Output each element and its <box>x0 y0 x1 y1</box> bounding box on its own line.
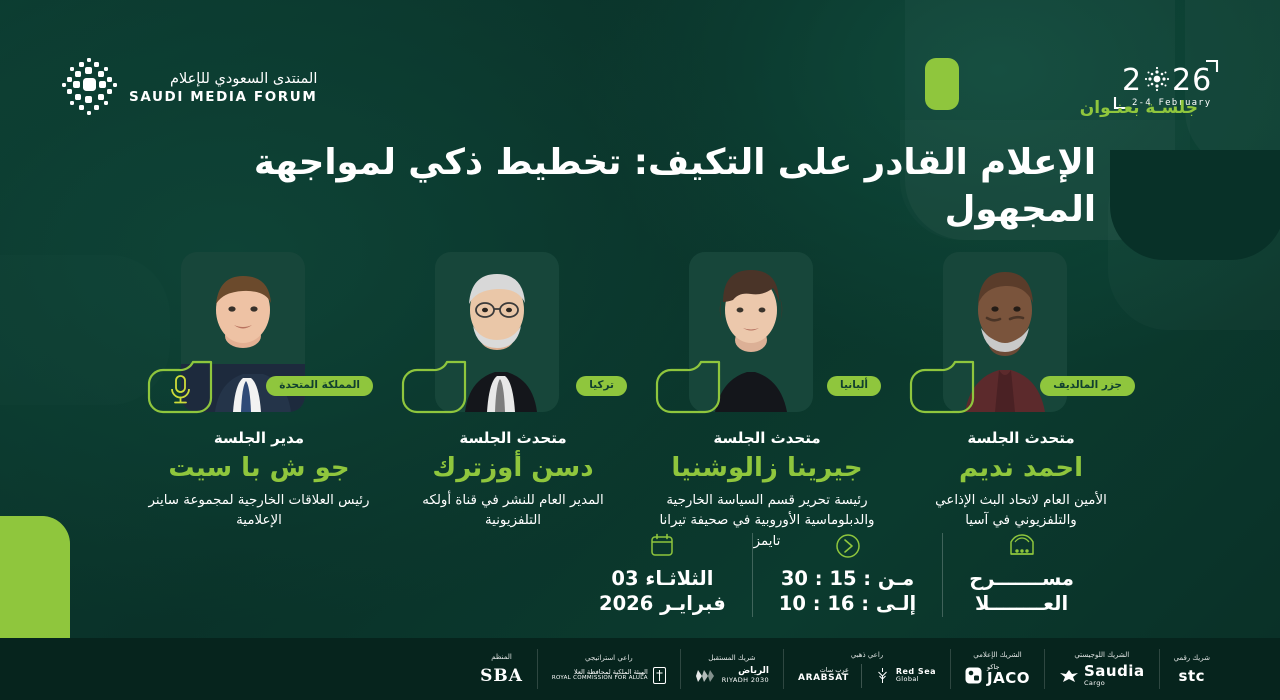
speaker-role: مدير الجلسة <box>214 431 304 446</box>
microphone-bracket-icon <box>147 360 215 424</box>
red-sea-coral-icon <box>874 667 891 684</box>
speaker-photo-wrap: جزر المالديف <box>899 252 1143 418</box>
bg-dark-shape <box>1110 150 1280 260</box>
country-badge: المملكة المتحدة <box>266 376 373 396</box>
saudi-media-forum-logo: المنتدى السعودي للإعلام SAUDI MEDIA FORU… <box>60 58 317 116</box>
dot-cluster-icon <box>60 58 118 116</box>
speaker-card[interactable]: جزر المالديف متحدث الجلسة احمد نديم الأم… <box>899 252 1143 552</box>
jaco-mark-icon <box>965 667 982 684</box>
meta-line-1: الثلاثـاء 03 <box>611 566 713 591</box>
meta-time: مـن : 15 : 30 إلـى : 16 : 10 <box>753 533 943 617</box>
meta-date: الثلاثـاء 03 فبرايـر 2026 <box>573 533 753 617</box>
sponsor-label: شريك رقمي <box>1174 654 1210 662</box>
sponsor-label: الشريك الإعلامي <box>973 651 1021 659</box>
speaker-name: جو ش با سيت <box>168 454 349 483</box>
forum-wordmark: المنتدى السعودي للإعلام SAUDI MEDIA FORU… <box>129 69 317 105</box>
speaker-card[interactable]: المملكة المتحدة مدير الجلسة جو ش با سيت … <box>137 252 381 552</box>
sponsor-logos: الرياض RIYADH 2030 <box>695 667 769 683</box>
sponsor-label: الشريك اللوجيستي <box>1074 651 1129 659</box>
sponsor-logo-jaco: جاكو JACO <box>965 664 1030 687</box>
theater-stage-icon <box>1009 533 1035 559</box>
speaker-card[interactable]: ألبانيا متحدث الجلسة جيرينا زالوشنيا رئي… <box>645 252 889 552</box>
meta-line-2: العــــــــلا <box>975 591 1068 616</box>
sponsor-group: الشريك اللوجيستي Saudia Cargo <box>1045 649 1160 689</box>
svg-text:26: 26 <box>1172 63 1212 98</box>
expo-mark-icon <box>695 668 717 684</box>
speaker-name: احمد نديم <box>959 454 1083 483</box>
sponsor-logos: Saudia Cargo <box>1059 664 1145 687</box>
sponsor-label: شريك المستقبل <box>708 654 755 662</box>
speaker-photo-wrap: المملكة المتحدة <box>137 252 381 418</box>
sponsor-group: شريك رقمي stc <box>1160 649 1224 689</box>
speaker-role: متحدث الجلسة <box>459 431 566 446</box>
country-badge: ألبانيا <box>827 376 881 396</box>
speaker-title: رئيس العلاقات الخارجية لمجموعة ساينر الإ… <box>145 491 373 532</box>
sponsor-logos: stc <box>1179 667 1206 685</box>
sponsor-group: شريك المستقبل الرياض RIYADH 2030 <box>681 649 784 689</box>
sponsor-group: راعي ذهبي Red Sea Global <box>784 649 951 689</box>
speaker-photo-wrap: تركيا <box>391 252 635 418</box>
lime-accent-tab <box>925 58 959 110</box>
session-poster: المنتدى السعودي للإعلام SAUDI MEDIA FORU… <box>0 0 1280 700</box>
meta-line-2: إلـى : 16 : 10 <box>779 591 916 616</box>
sponsor-group: راعي استراتيجي الهيئة الملكية لمحافظة ال… <box>538 649 681 689</box>
sponsor-logo-royal-commission-alula: الهيئة الملكية لمحافظة العلا ROYAL COMMI… <box>552 667 666 684</box>
sponsor-logo-arabsat: عرب سات ARABSAT <box>798 667 849 683</box>
meta-line-1: مـن : 15 : 30 <box>781 566 914 591</box>
session-title: الإعلام القادر على التكيف: تخطيط ذكي لمو… <box>176 140 1096 234</box>
sponsor-label: راعي ذهبي <box>851 651 883 659</box>
quote-bracket-icon <box>655 360 723 424</box>
speaker-title: الأمين العام لاتحاد البث الإذاعي والتلفز… <box>907 491 1135 532</box>
clock-arrow-icon <box>835 533 861 559</box>
event-meta: مســـــــرح العــــــــلا مـن : 15 : 30 … <box>573 533 1100 617</box>
country-badge: جزر المالديف <box>1040 376 1135 396</box>
sponsor-logos: جاكو JACO <box>965 664 1030 687</box>
speaker-card[interactable]: تركيا متحدث الجلسة دسن أوزترك المدير الع… <box>391 252 635 552</box>
quote-bracket-icon <box>401 360 469 424</box>
forum-name-en: SAUDI MEDIA FORUM <box>129 89 317 105</box>
sponsor-group: الشريك الإعلامي جاكو JACO <box>951 649 1045 689</box>
speaker-role: متحدث الجلسة <box>713 431 820 446</box>
meta-line-1: مســـــــرح <box>969 566 1074 591</box>
divider <box>861 664 862 688</box>
quote-bracket-icon <box>909 360 977 424</box>
speaker-title: المدير العام للنشر في قناة أولكه التلفزي… <box>399 491 627 532</box>
speaker-name: جيرينا زالوشنيا <box>671 454 862 483</box>
sponsor-group: المنظم SBA <box>466 649 538 689</box>
sponsor-logos: الهيئة الملكية لمحافظة العلا ROYAL COMMI… <box>552 667 666 684</box>
session-label: جلسـة بعنـوان <box>1080 98 1198 118</box>
forum-name-ar: المنتدى السعودي للإعلام <box>170 71 317 87</box>
sponsor-logo-riyadh-expo: الرياض RIYADH 2030 <box>695 667 769 683</box>
sponsor-logo-saudia-cargo: Saudia Cargo <box>1059 664 1145 687</box>
speaker-role: متحدث الجلسة <box>967 431 1074 446</box>
sponsor-logos: Red Sea Global عرب سات ARABSAT <box>798 664 936 688</box>
sponsor-logo-stc: stc <box>1179 667 1206 685</box>
speaker-name: دسن أوزترك <box>432 454 593 483</box>
alula-emblem-icon <box>653 667 666 684</box>
meta-venue: مســـــــرح العــــــــلا <box>943 533 1100 617</box>
sponsor-label: المنظم <box>491 653 512 661</box>
speaker-photo-wrap: ألبانيا <box>645 252 889 418</box>
sponsor-logo-red-sea-global: Red Sea Global <box>874 667 936 684</box>
sponsor-bar: شريك رقمي stc الشريك اللوجيستي Saudia Ca… <box>0 638 1280 700</box>
sponsor-logo-sba: SBA <box>480 666 523 686</box>
svg-text:2: 2 <box>1122 63 1142 98</box>
calendar-icon <box>650 533 674 559</box>
country-badge: تركيا <box>576 376 627 396</box>
sponsor-logos: SBA <box>480 666 523 686</box>
meta-line-2: فبرايـر 2026 <box>599 591 726 616</box>
saudia-wings-icon <box>1059 669 1079 683</box>
speakers-row: المملكة المتحدة مدير الجلسة جو ش با سيت … <box>0 252 1280 552</box>
sponsor-label: راعي استراتيجي <box>585 654 633 662</box>
